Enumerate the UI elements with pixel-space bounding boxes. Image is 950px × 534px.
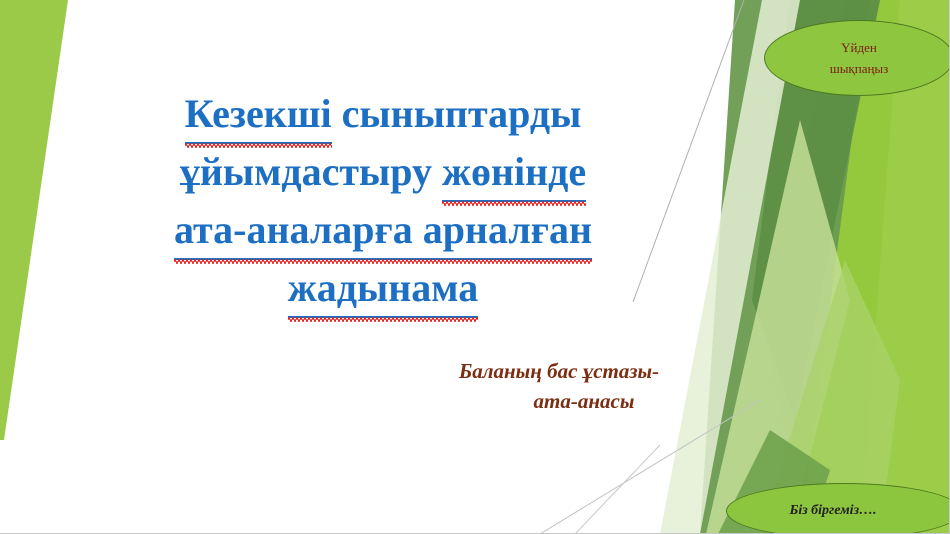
hairline-diagonal-short <box>575 445 660 534</box>
callout-top-right-text: Үйден шықпаңыз <box>830 37 889 79</box>
title-line-1: Кезекші сыныптарды <box>78 86 688 144</box>
title-line-3: ата-аналарға арналған <box>78 202 688 260</box>
title-line-4: жадынама <box>78 260 688 318</box>
callout-ellipse-top-right: Үйден шықпаңыз <box>764 20 950 96</box>
title-line-2: ұйымдастыру жөнінде <box>78 144 688 202</box>
subtitle-line-2: ата-анасы <box>390 386 728 416</box>
callout-bottom-right-text: Біз біргеміз…. <box>789 502 898 520</box>
title-line-4-underlined: жадынама <box>288 260 479 318</box>
title-line-3-underlined: ата-аналарға арналған <box>174 202 592 260</box>
slide-title: Кезекші сыныптарды ұйымдастыру жөнінде а… <box>78 86 688 318</box>
title-line-1-underlined: Кезекші <box>185 86 332 144</box>
title-line-1-plain: сыныптарды <box>332 91 582 136</box>
callout-ellipse-bottom-right: Біз біргеміз…. <box>726 483 950 534</box>
title-line-2-plain: ұйымдастыру <box>180 149 442 194</box>
callout-top-right-line-2: шықпаңыз <box>830 58 889 79</box>
slide-canvas: Кезекші сыныптарды ұйымдастыру жөнінде а… <box>0 0 950 534</box>
callout-top-right-line-1: Үйден <box>830 37 889 58</box>
left-green-wedge <box>0 0 68 440</box>
slide-subtitle: Баланың бас ұстазы- ата-анасы <box>390 356 728 416</box>
title-line-2-underlined: жөнінде <box>442 144 586 202</box>
subtitle-line-1: Баланың бас ұстазы- <box>390 356 728 386</box>
